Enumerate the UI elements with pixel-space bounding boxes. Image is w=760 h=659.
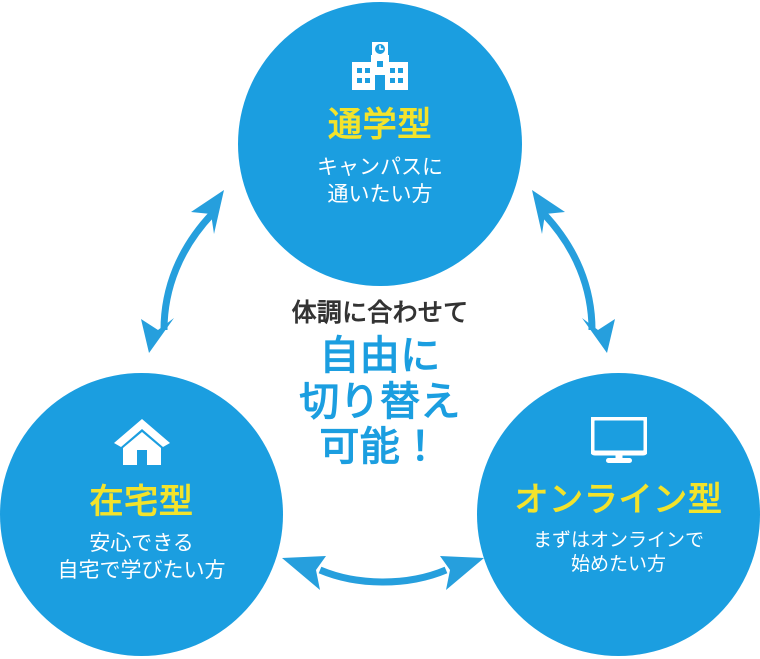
option-title-online: オンライン型 [514, 483, 722, 517]
arrow-home-online [278, 528, 488, 608]
arrow-home-school [128, 178, 258, 358]
option-circle-school[interactable]: 通学型 キャンパスに 通いたい方 [238, 2, 522, 286]
option-subtitle-online: まずはオンラインで 始めたい方 [533, 528, 704, 577]
center-caption-main: 自由に 切り替え 可能！ [250, 334, 510, 471]
desktop-monitor-icon [591, 417, 647, 463]
option-circle-online[interactable]: オンライン型 まずはオンラインで 始めたい方 [477, 373, 760, 656]
house-icon [114, 417, 170, 465]
option-subtitle-home: 安心できる 自宅で学びたい方 [58, 530, 226, 584]
diagram-canvas: 通学型 キャンパスに 通いたい方 在宅型 安心できる 自宅で学びたい方 [0, 0, 760, 659]
option-title-school: 通学型 [328, 108, 432, 142]
school-building-icon [350, 42, 410, 90]
center-caption: 体調に合わせて 自由に 切り替え 可能！ [250, 300, 510, 471]
center-caption-lead: 体調に合わせて [250, 300, 510, 325]
option-subtitle-school: キャンパスに 通いたい方 [317, 154, 443, 208]
arrow-school-online [498, 178, 628, 358]
option-circle-home[interactable]: 在宅型 安心できる 自宅で学びたい方 [0, 373, 283, 656]
option-title-home: 在宅型 [89, 485, 193, 519]
